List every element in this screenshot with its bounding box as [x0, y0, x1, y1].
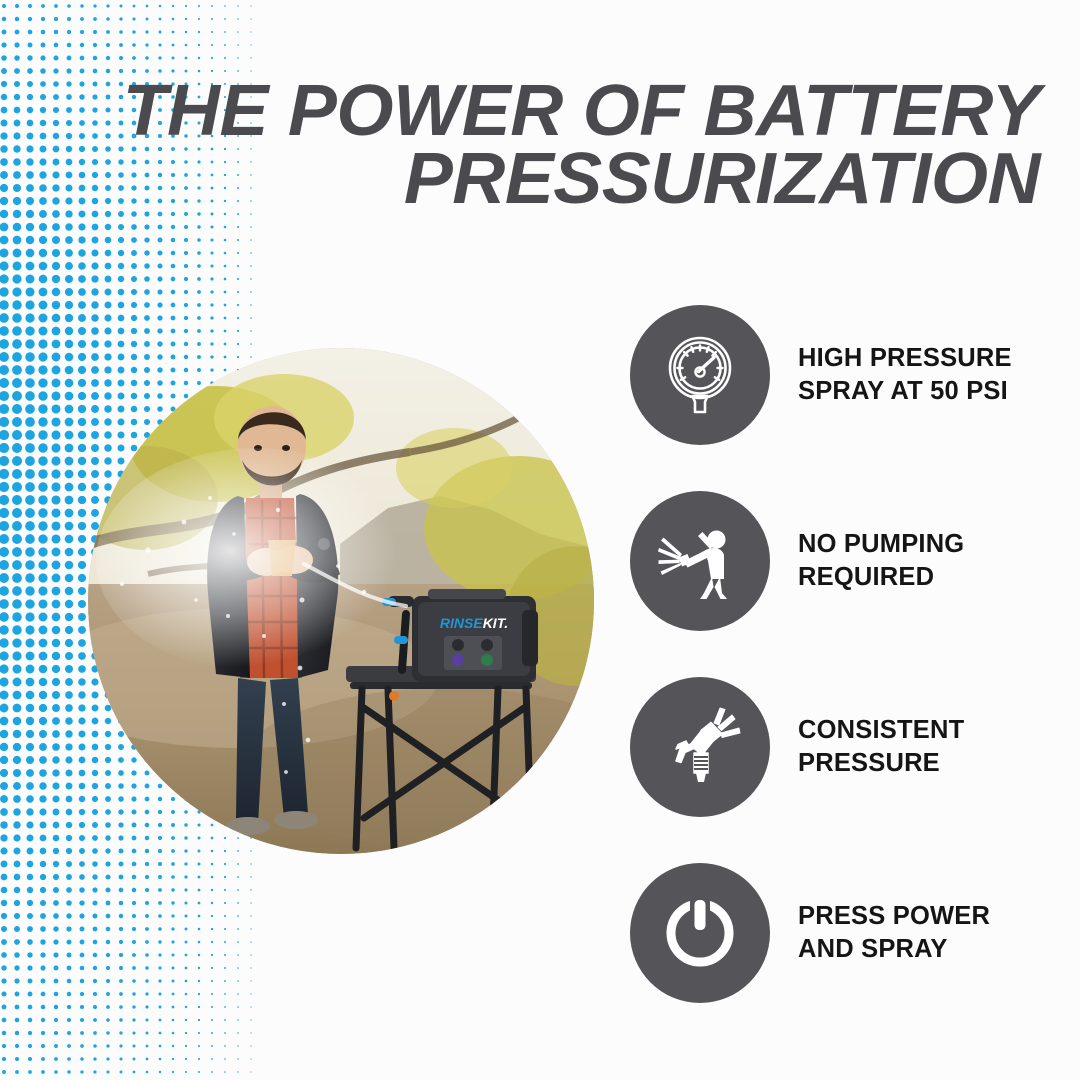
lifestyle-photo-circle: RINSEKIT. — [88, 348, 594, 854]
page-title: THE POWER OF BATTERY PRESSURIZATION — [120, 78, 1040, 213]
feature-label-line-1: PRESS POWER — [798, 900, 1060, 933]
feature-label-press-power: PRESS POWER AND SPRAY — [798, 900, 1060, 965]
feature-label-line-2: SPRAY AT 50 PSI — [798, 375, 1060, 408]
feature-label-line-1: NO PUMPING — [798, 528, 1060, 561]
infographic-canvas: THE POWER OF BATTERY PRESSURIZATION — [0, 0, 1080, 1080]
feature-label-line-1: CONSISTENT — [798, 714, 1060, 747]
feature-label-consistent-pressure: CONSISTENT PRESSURE — [798, 714, 1060, 779]
pressure-gauge-icon — [630, 305, 770, 445]
feature-label-high-pressure: HIGH PRESSURE SPRAY AT 50 PSI — [798, 342, 1060, 407]
feature-item-press-power: PRESS POWER AND SPRAY — [630, 863, 1060, 1003]
svg-text:RINSEKIT.: RINSEKIT. — [440, 615, 508, 631]
feature-item-no-pumping: NO PUMPING REQUIRED — [630, 491, 1060, 631]
feature-label-line-2: PRESSURE — [798, 747, 1060, 780]
power-button-icon — [630, 863, 770, 1003]
feature-item-consistent-pressure: CONSISTENT PRESSURE — [630, 677, 1060, 817]
feature-label-line-2: AND SPRAY — [798, 933, 1060, 966]
feature-item-high-pressure: HIGH PRESSURE SPRAY AT 50 PSI — [630, 305, 1060, 445]
feature-label-no-pumping: NO PUMPING REQUIRED — [798, 528, 1060, 593]
feature-label-line-1: HIGH PRESSURE — [798, 342, 1060, 375]
spray-nozzle-icon — [630, 677, 770, 817]
feature-label-line-2: REQUIRED — [798, 561, 1060, 594]
page-title-line-1: THE POWER OF BATTERY — [102, 78, 1040, 146]
page-title-line-2: PRESSURIZATION — [102, 146, 1040, 214]
feature-list: HIGH PRESSURE SPRAY AT 50 PSI — [630, 305, 1060, 1003]
person-spraying-hose-icon — [630, 491, 770, 631]
